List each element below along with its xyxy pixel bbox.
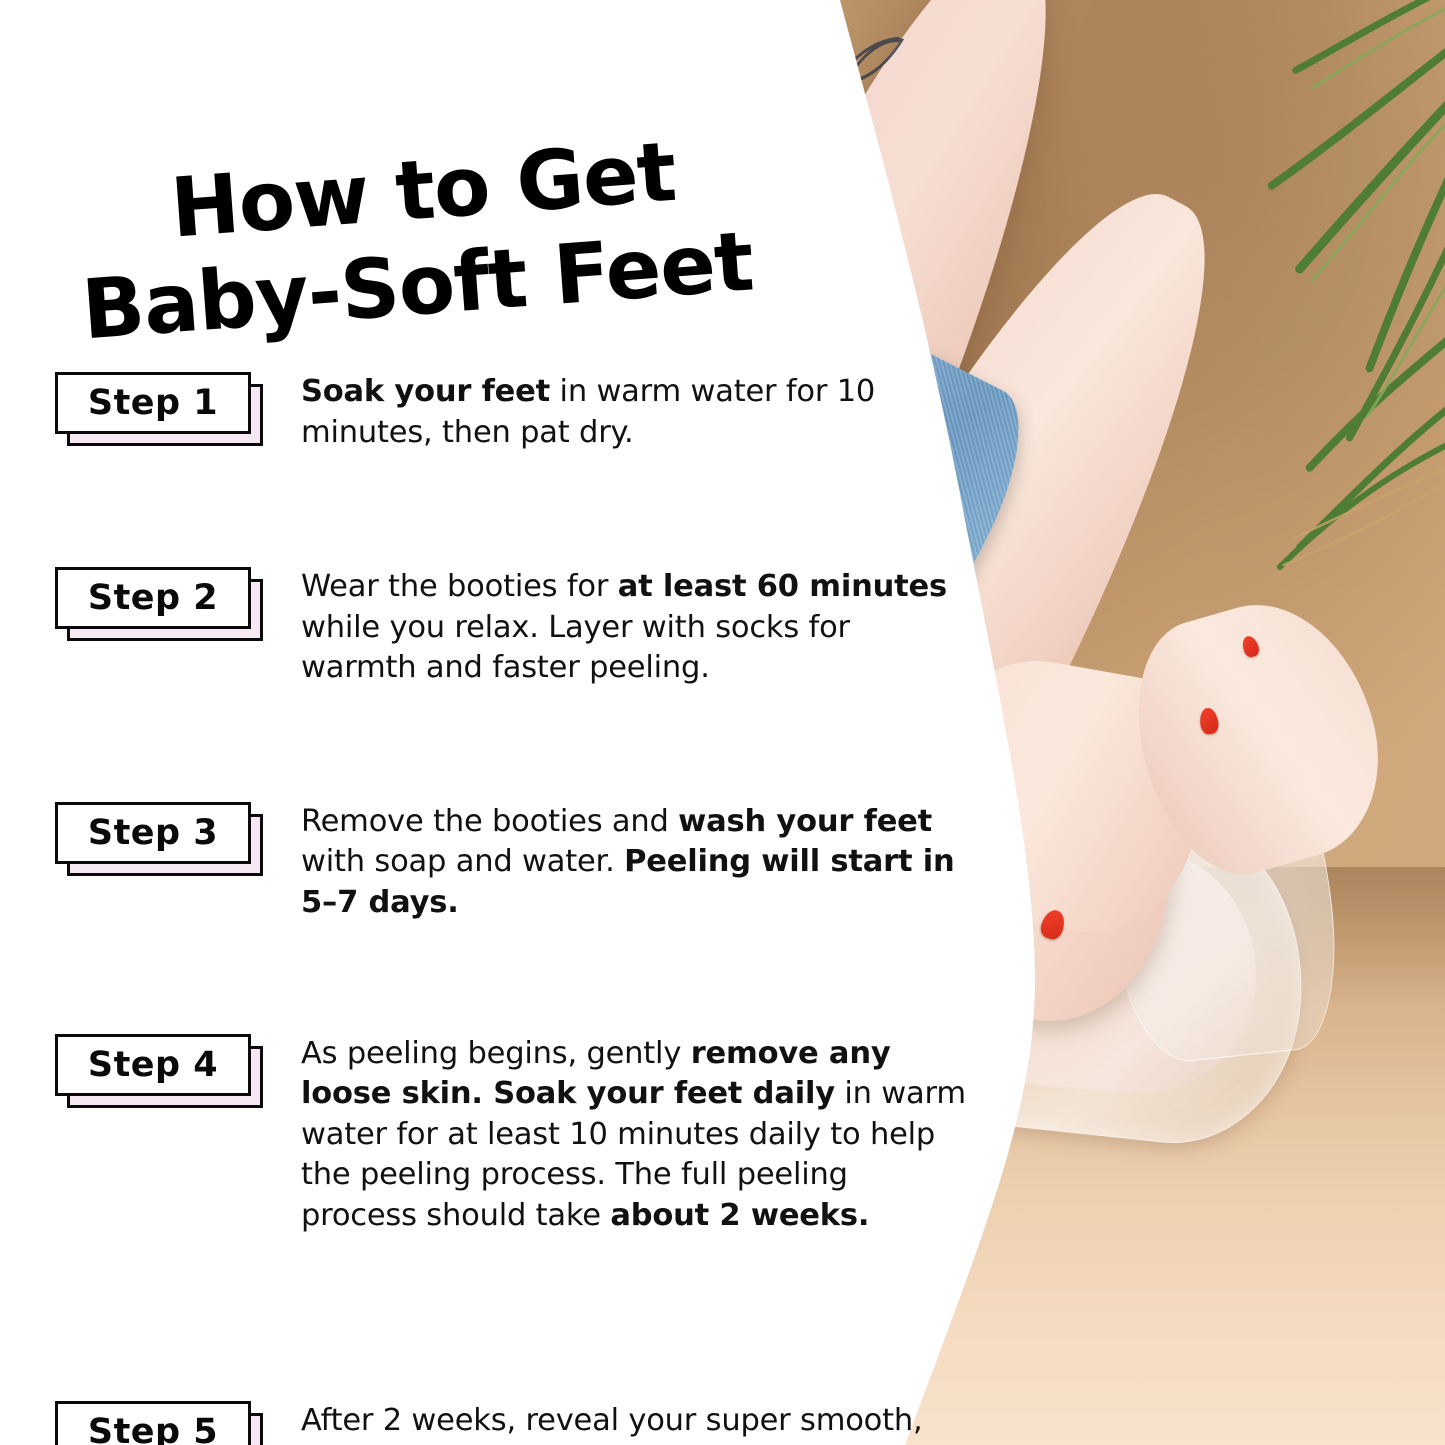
step-text-3: Remove the booties and wash your feet wi…	[263, 802, 980, 924]
step-item-2: Step 2 Wear the booties for at least 60 …	[0, 567, 980, 689]
infographic-page: How to Get Baby-Soft Feet Step 1 Soak yo…	[0, 0, 1445, 1445]
step-badge-wrap-3: Step 3	[55, 802, 263, 864]
step-badge-wrap-1: Step 1	[55, 372, 263, 434]
step-item-1: Step 1 Soak your feet in warm water for …	[0, 372, 980, 453]
step-text-2: Wear the booties for at least 60 minutes…	[263, 567, 980, 689]
step-text-4: As peeling begins, gently remove any loo…	[263, 1034, 980, 1237]
step-badge-wrap-5: Step 5	[55, 1401, 263, 1445]
step-item-3: Step 3 Remove the booties and wash your …	[0, 802, 980, 924]
step-badge-wrap-2: Step 2	[55, 567, 263, 629]
emphasis-text: Soak your feet	[301, 374, 550, 409]
body-text: while you relax. Layer with socks for wa…	[301, 610, 850, 686]
emphasis-text: at least 60 minutes	[618, 569, 947, 604]
emphasis-text: about 2 weeks.	[610, 1198, 869, 1233]
plant-fronds	[1200, 0, 1445, 607]
step-item-4: Step 4 As peeling begins, gently remove …	[0, 1034, 980, 1237]
steps-list: Step 1 Soak your feet in warm water for …	[0, 372, 980, 1445]
emphasis-text: wash your feet	[678, 804, 932, 839]
step-badge-4: Step 4	[55, 1034, 251, 1096]
step-text-1: Soak your feet in warm water for 10 minu…	[263, 372, 980, 453]
step-badge-3: Step 3	[55, 802, 251, 864]
step-badge-5: Step 5	[55, 1401, 251, 1445]
step-badge-2: Step 2	[55, 567, 251, 629]
body-text: Wear the booties for	[301, 569, 618, 604]
body-text: Remove the booties and	[301, 804, 678, 839]
step-text-5: After 2 weeks, reveal your super smooth,…	[263, 1401, 980, 1445]
body-text: As peeling begins, gently	[301, 1036, 691, 1071]
body-text: with soap and water.	[301, 844, 624, 879]
step-item-5: Step 5 After 2 weeks, reveal your super …	[0, 1401, 980, 1445]
step-badge-1: Step 1	[55, 372, 251, 434]
plant-icon	[1200, 0, 1445, 607]
body-text: After 2 weeks, reveal your super smooth,	[301, 1403, 923, 1438]
step-badge-wrap-4: Step 4	[55, 1034, 263, 1096]
page-title: How to Get Baby-Soft Feet	[72, 122, 784, 356]
